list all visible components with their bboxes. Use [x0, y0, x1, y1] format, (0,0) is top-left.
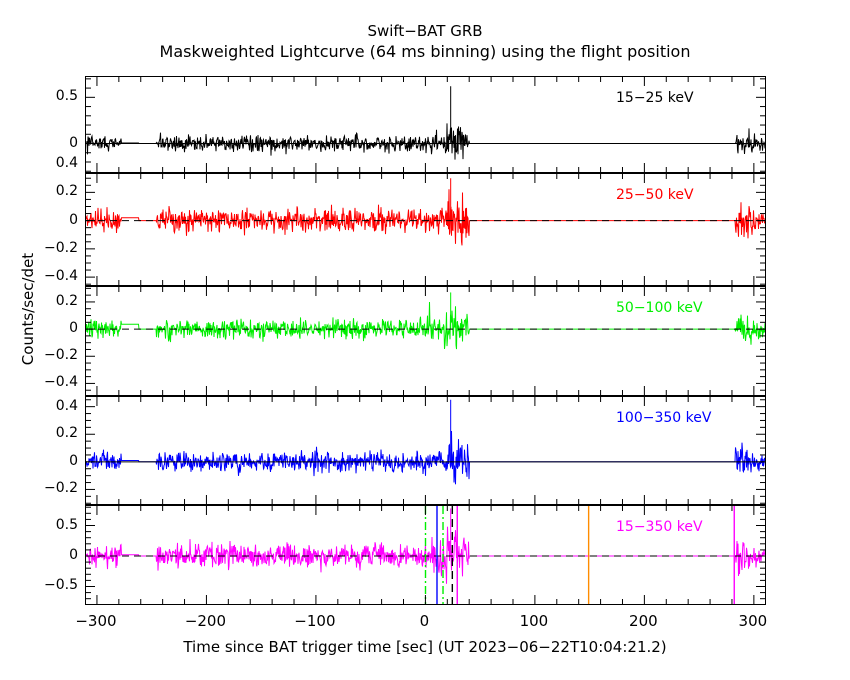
y-tick-label: 0: [10, 547, 78, 563]
y-tick-label: −0.2: [10, 347, 78, 363]
y-tick-label: 0.2: [10, 425, 78, 441]
y-tick-label: 0.4: [10, 155, 78, 171]
energy-band-label-3: 50−100 keV: [616, 300, 703, 316]
y-tick-label: 0.5: [10, 517, 78, 533]
x-tick-label: −200: [185, 612, 226, 630]
energy-band-label-2: 25−50 keV: [616, 187, 694, 203]
x-tick-label: 200: [629, 612, 658, 630]
x-tick-label: 0: [420, 612, 430, 630]
lightcurve-trace-1: [86, 123, 765, 159]
y-tick-label: 0.5: [10, 88, 78, 104]
x-tick-label: −300: [75, 612, 116, 630]
figure-subtitle: Maskweighted Lightcurve (64 ms binning) …: [0, 42, 850, 61]
y-tick-label: 0.2: [10, 183, 78, 199]
energy-band-label-4: 100−350 keV: [616, 410, 711, 426]
y-tick-label: 0: [10, 135, 78, 151]
x-tick-label: −100: [294, 612, 335, 630]
figure-title: Swift−BAT GRB: [0, 22, 850, 40]
y-tick-label: −0.4: [10, 268, 78, 284]
energy-band-label-5: 15−350 keV: [616, 519, 703, 535]
lightcurve-figure: Swift−BAT GRB Maskweighted Lightcurve (6…: [0, 0, 850, 680]
y-tick-label: 0: [10, 212, 78, 228]
y-tick-label: 0: [10, 320, 78, 336]
x-tick-label: 300: [739, 612, 768, 630]
lightcurve-trace-4: [86, 431, 765, 484]
y-tick-label: −0.4: [10, 374, 78, 390]
energy-band-label-1: 15−25 keV: [616, 90, 694, 106]
y-tick-label: −0.2: [10, 480, 78, 496]
y-tick-label: 0.4: [10, 398, 78, 414]
x-axis-label: Time since BAT trigger time [sec] (UT 20…: [0, 638, 850, 656]
y-tick-label: −0.2: [10, 240, 78, 256]
y-tick-label: 0: [10, 453, 78, 469]
y-tick-label: 0.2: [10, 293, 78, 309]
x-tick-label: 100: [520, 612, 549, 630]
y-tick-label: −0.5: [10, 577, 78, 593]
